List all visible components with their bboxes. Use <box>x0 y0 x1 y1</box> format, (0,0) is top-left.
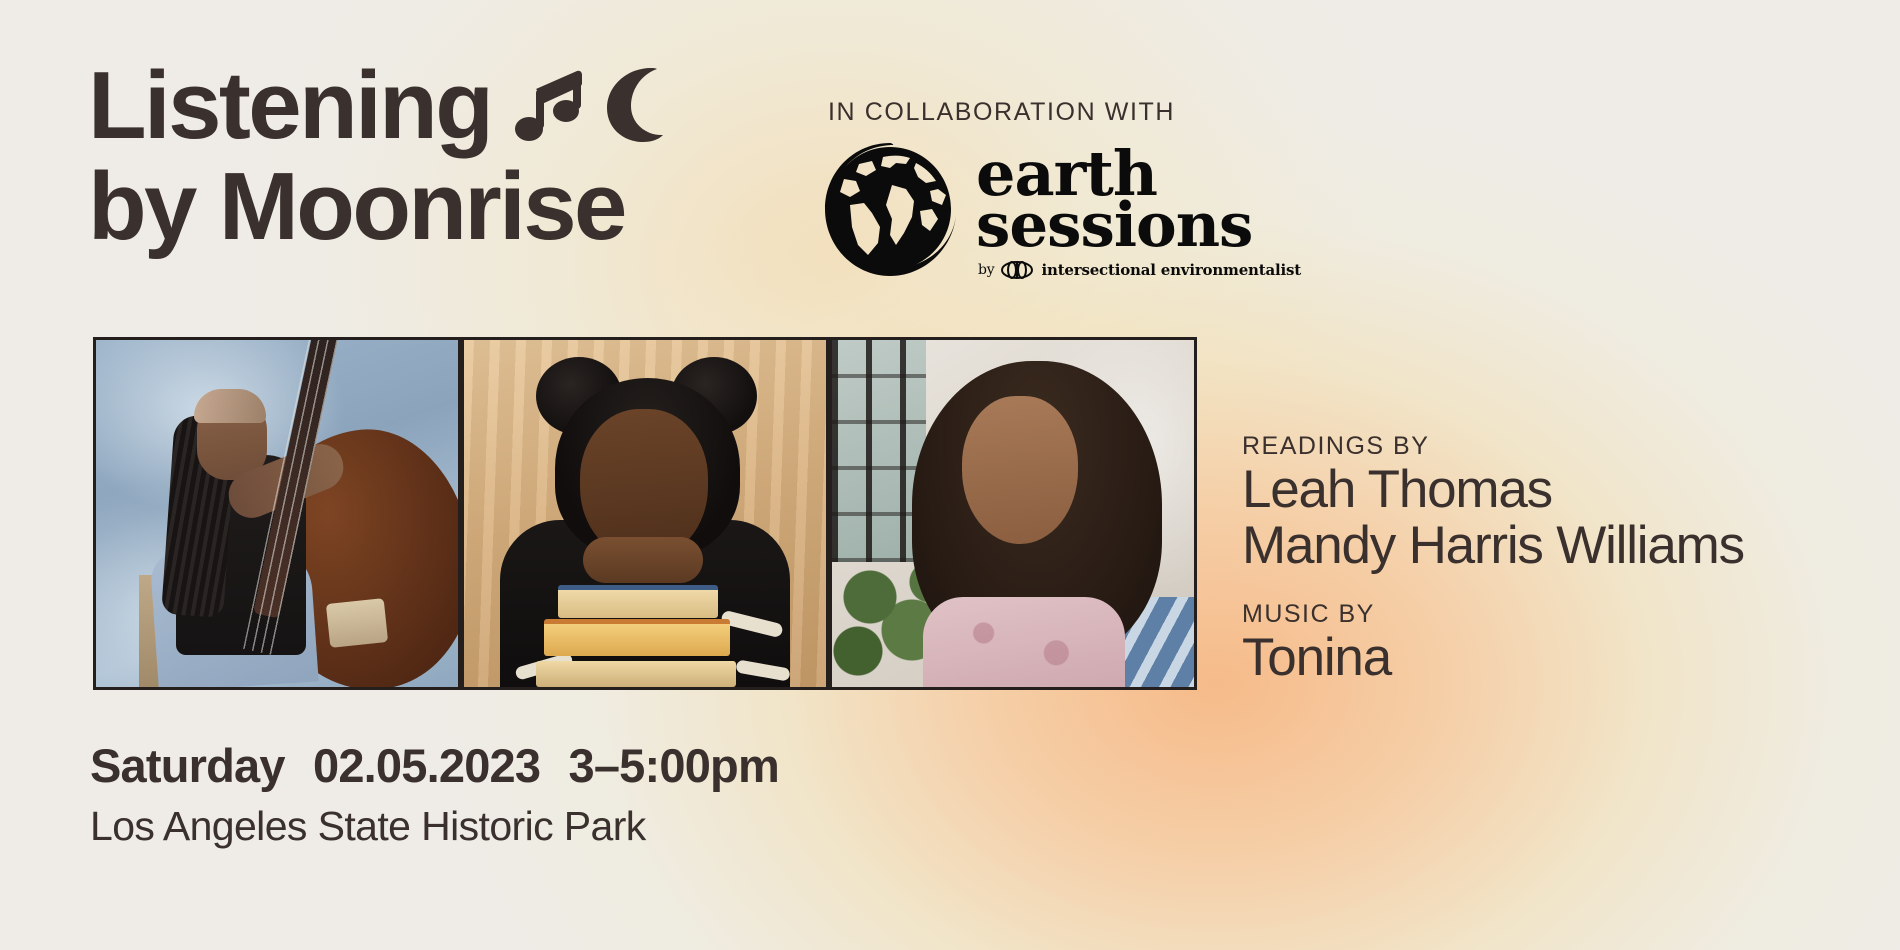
intersectional-environmentalist-mark-icon <box>1001 261 1033 279</box>
photo-tonina-bassist <box>93 337 461 690</box>
event-title-line-2: by Moonrise <box>88 159 663 254</box>
photo-leah-thomas <box>829 337 1197 690</box>
globe-icon <box>820 139 960 281</box>
title-line-1-row: Listening <box>88 58 663 153</box>
byline-by-label: by <box>978 262 994 278</box>
photo-mandy-harris-williams <box>461 337 829 690</box>
event-time: 3–5:00pm <box>569 739 779 792</box>
credits-readings: READINGS BY Leah Thomas Mandy Harris Wil… <box>1242 432 1744 574</box>
title-glyph-group <box>509 64 663 144</box>
music-name-1: Tonina <box>1242 630 1744 686</box>
credits-block: READINGS BY Leah Thomas Mandy Harris Wil… <box>1242 432 1744 687</box>
earth-sessions-logo: earth sessions by <box>820 139 1340 281</box>
earth-sessions-word-2: sessions <box>976 200 1301 252</box>
event-datetime: Saturday 02.05.2023 3–5:00pm <box>90 738 779 793</box>
earth-sessions-wordmark: earth sessions by <box>976 147 1301 279</box>
intersectional-environmentalist-name: intersectional environmentalist <box>1041 261 1301 279</box>
collaboration-kicker: IN COLLABORATION WITH <box>828 98 1340 127</box>
title-block: Listening <box>88 58 663 254</box>
readings-name-1: Leah Thomas <box>1242 462 1744 518</box>
readings-kicker: READINGS BY <box>1242 432 1744 461</box>
credits-music: MUSIC BY Tonina <box>1242 600 1744 686</box>
event-date: 02.05.2023 <box>313 739 540 792</box>
event-title-line-1: Listening <box>88 58 491 153</box>
photo-strip <box>93 337 1197 690</box>
crescent-moon-icon <box>583 64 663 144</box>
earth-sessions-byline: by intersectional environmentalist <box>978 261 1301 279</box>
collaboration-block: IN COLLABORATION WITH earth sessions by <box>820 98 1340 281</box>
footer-block: Saturday 02.05.2023 3–5:00pm Los Angeles… <box>90 738 779 850</box>
event-poster: Listening <box>0 0 1900 950</box>
readings-name-2: Mandy Harris Williams <box>1242 518 1744 574</box>
music-kicker: MUSIC BY <box>1242 600 1744 629</box>
event-day: Saturday <box>90 739 285 792</box>
event-venue: Los Angeles State Historic Park <box>90 803 779 850</box>
music-notes-icon <box>509 65 583 143</box>
